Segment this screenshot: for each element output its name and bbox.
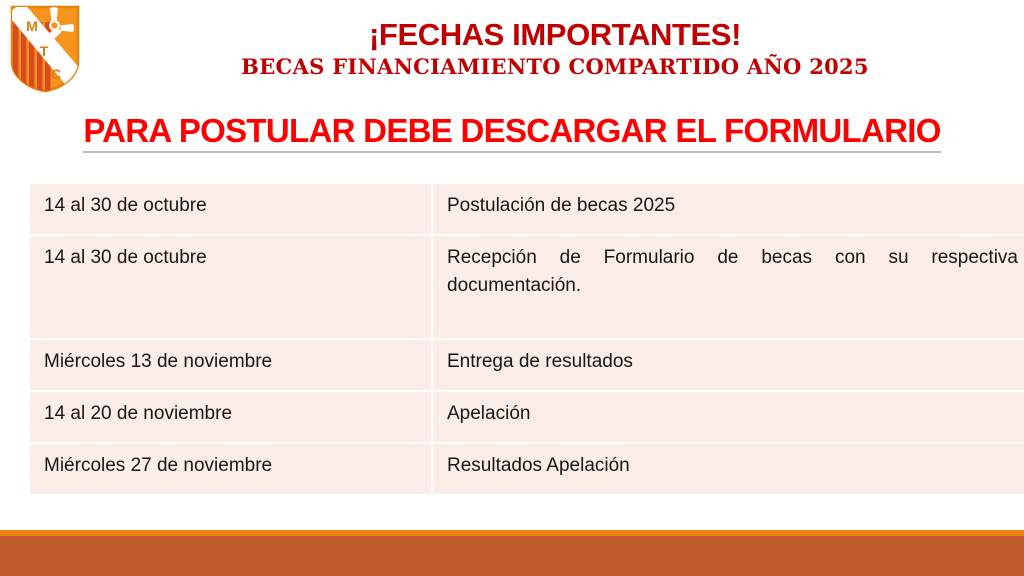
important-dates-table: 14 al 30 de octubre Postulación de becas…	[30, 184, 1024, 494]
cell-description: Resultados Apelación	[432, 443, 1024, 494]
cell-date: 14 al 30 de octubre	[30, 235, 432, 339]
logo-letter-t: T	[40, 43, 49, 59]
cell-description: Recepción de Formulario de becas con su …	[432, 235, 1024, 339]
cell-description: Entrega de resultados	[432, 339, 1024, 391]
table-row: Miércoles 13 de noviembre Entrega de res…	[30, 339, 1024, 391]
footer-band	[0, 536, 1024, 576]
mtc-shield-logo: M T C	[9, 4, 81, 94]
download-form-notice: PARA POSTULAR DEBE DESCARGAR EL FORMULAR…	[0, 112, 1024, 153]
cell-description: Postulación de becas 2025	[432, 184, 1024, 235]
logo-letter-c: C	[51, 66, 61, 82]
table-row: 14 al 20 de noviembre Apelación	[30, 391, 1024, 443]
header-title-block: ¡FECHAS IMPORTANTES! BECAS FINANCIAMIENT…	[110, 18, 1000, 80]
page-title: ¡FECHAS IMPORTANTES!	[110, 18, 1000, 52]
page-subtitle: BECAS FINANCIAMIENTO COMPARTIDO AÑO 2025	[110, 54, 1000, 80]
table-row: 14 al 30 de octubre Recepción de Formula…	[30, 235, 1024, 339]
table-row: 14 al 30 de octubre Postulación de becas…	[30, 184, 1024, 235]
table-row: Miércoles 27 de noviembre Resultados Ape…	[30, 443, 1024, 494]
cell-description: Apelación	[432, 391, 1024, 443]
cell-date: Miércoles 27 de noviembre	[30, 443, 432, 494]
cell-date: 14 al 20 de noviembre	[30, 391, 432, 443]
download-form-notice-text: PARA POSTULAR DEBE DESCARGAR EL FORMULAR…	[83, 112, 940, 153]
cell-date: Miércoles 13 de noviembre	[30, 339, 432, 391]
cell-date: 14 al 30 de octubre	[30, 184, 432, 235]
logo-letter-m: M	[26, 18, 38, 34]
